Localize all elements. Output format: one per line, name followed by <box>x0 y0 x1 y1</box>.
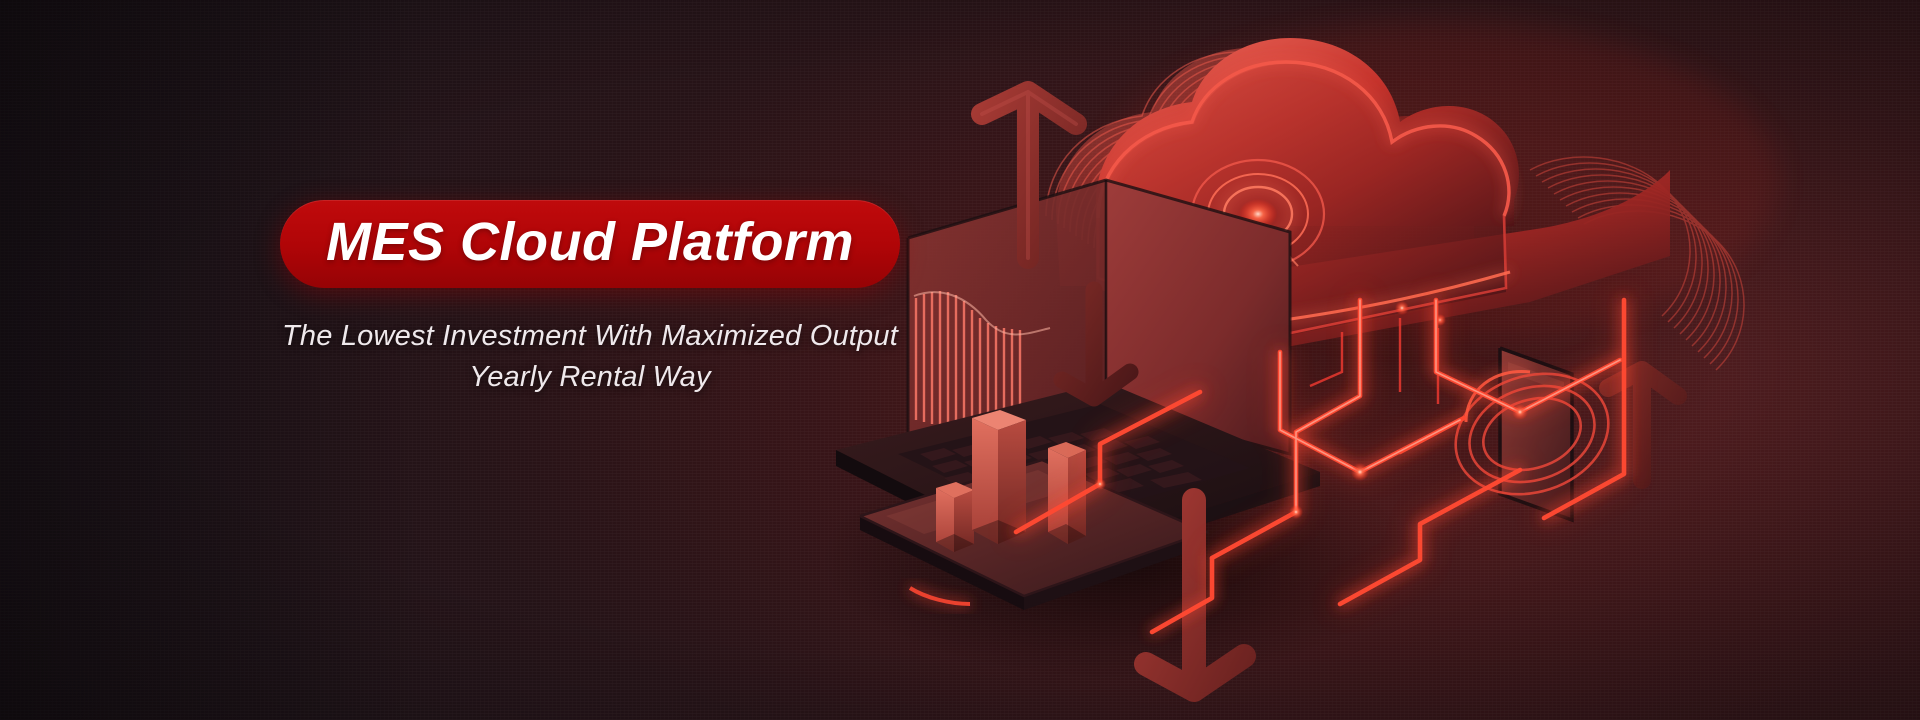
page-title: MES Cloud Platform <box>326 214 854 270</box>
hero-banner: MES Cloud Platform The Lowest Investment… <box>0 0 1920 720</box>
hero-text-block: MES Cloud Platform The Lowest Investment… <box>250 200 930 399</box>
subtitle-line-1: The Lowest Investment With Maximized Out… <box>250 316 930 357</box>
hero-subtitle: The Lowest Investment With Maximized Out… <box>250 316 930 398</box>
subtitle-line-2: Yearly Rental Way <box>250 357 930 398</box>
isometric-illustration <box>760 0 1920 720</box>
title-badge: MES Cloud Platform <box>280 200 900 288</box>
